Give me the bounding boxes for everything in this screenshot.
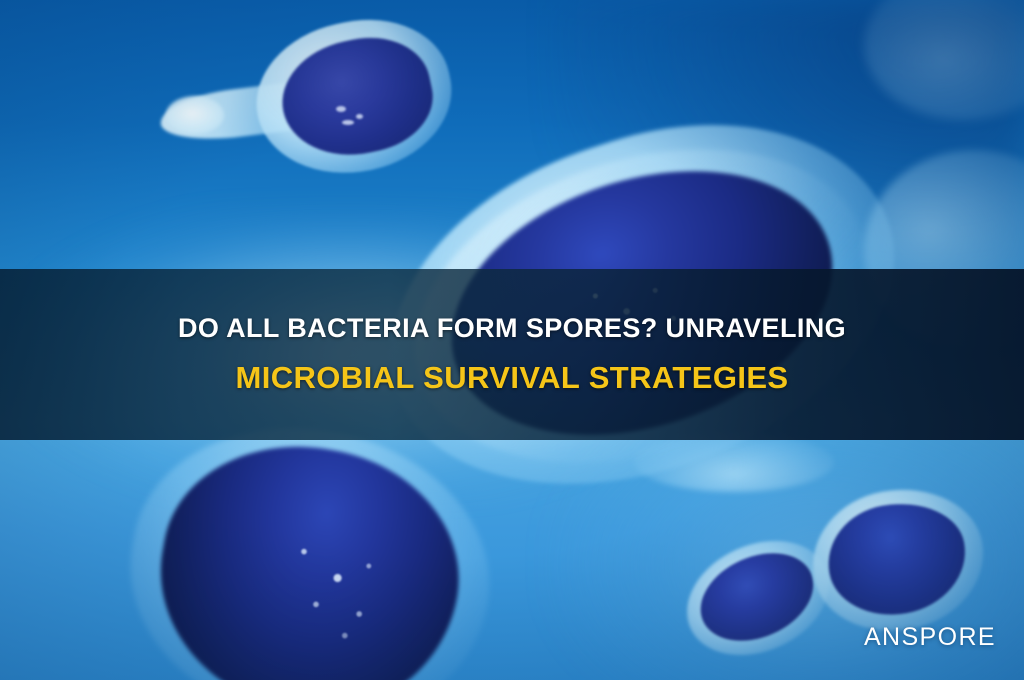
hero-banner: DO ALL BACTERIA FORM SPORES? UNRAVELING … — [0, 0, 1024, 680]
brand-watermark: ANSPORE — [864, 623, 996, 652]
headline-line-1: DO ALL BACTERIA FORM SPORES? UNRAVELING — [178, 314, 846, 344]
headline-line-2: MICROBIAL SURVIVAL STRATEGIES — [235, 361, 788, 395]
title-overlay-band: DO ALL BACTERIA FORM SPORES? UNRAVELING … — [0, 269, 1024, 440]
